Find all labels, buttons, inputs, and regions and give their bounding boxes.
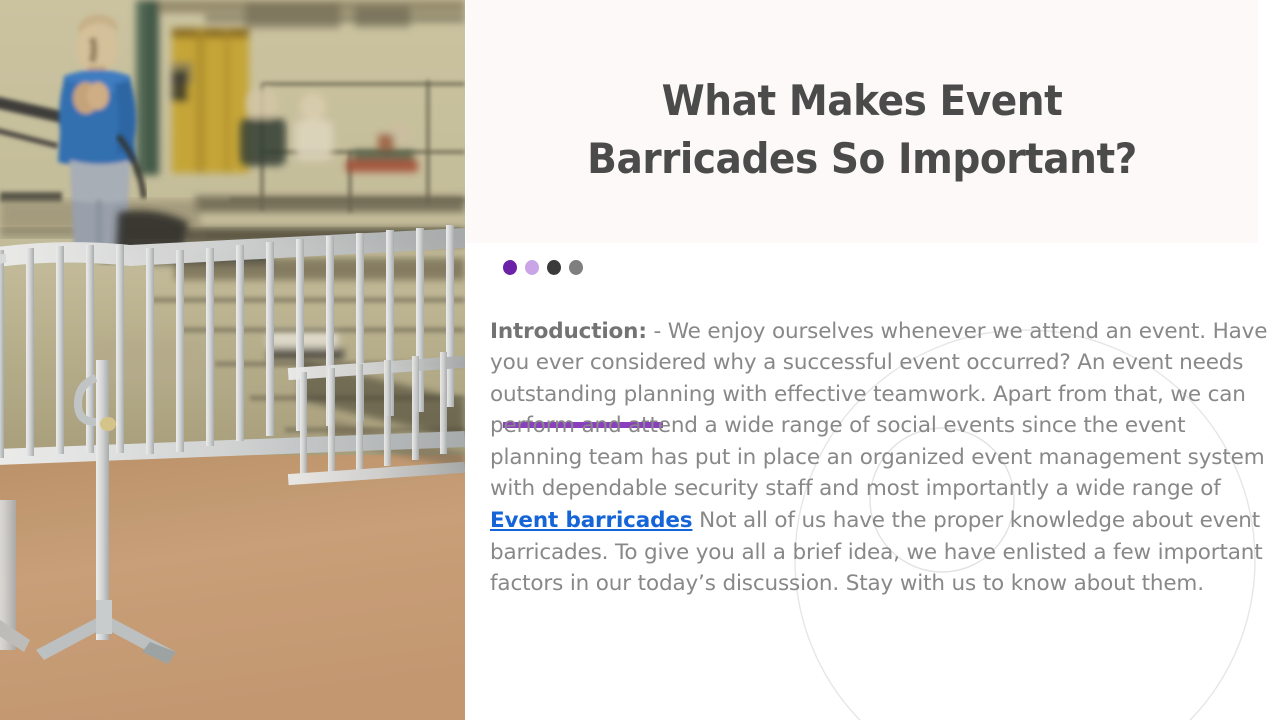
progress-dot-3[interactable] [547,260,561,275]
progress-dot-1[interactable] [503,260,517,275]
event-barricades-link[interactable]: Event barricades [490,508,692,533]
photo-illustration [0,0,465,720]
event-barricade-photo [0,0,465,720]
progress-dots[interactable] [503,260,583,275]
title-card: What Makes Event Barricades So Important… [466,0,1258,243]
progress-dot-2[interactable] [525,260,539,275]
page-title: What Makes Event Barricades So Important… [494,72,1231,188]
body-paragraph: Introduction: - We enjoy ourselves whene… [490,316,1270,600]
intro-label: Introduction: [490,319,647,344]
slide-canvas: What Makes Event Barricades So Important… [0,0,1280,720]
progress-dot-4[interactable] [569,260,583,275]
body-text-part-1: - We enjoy ourselves whenever we attend … [490,319,1267,502]
